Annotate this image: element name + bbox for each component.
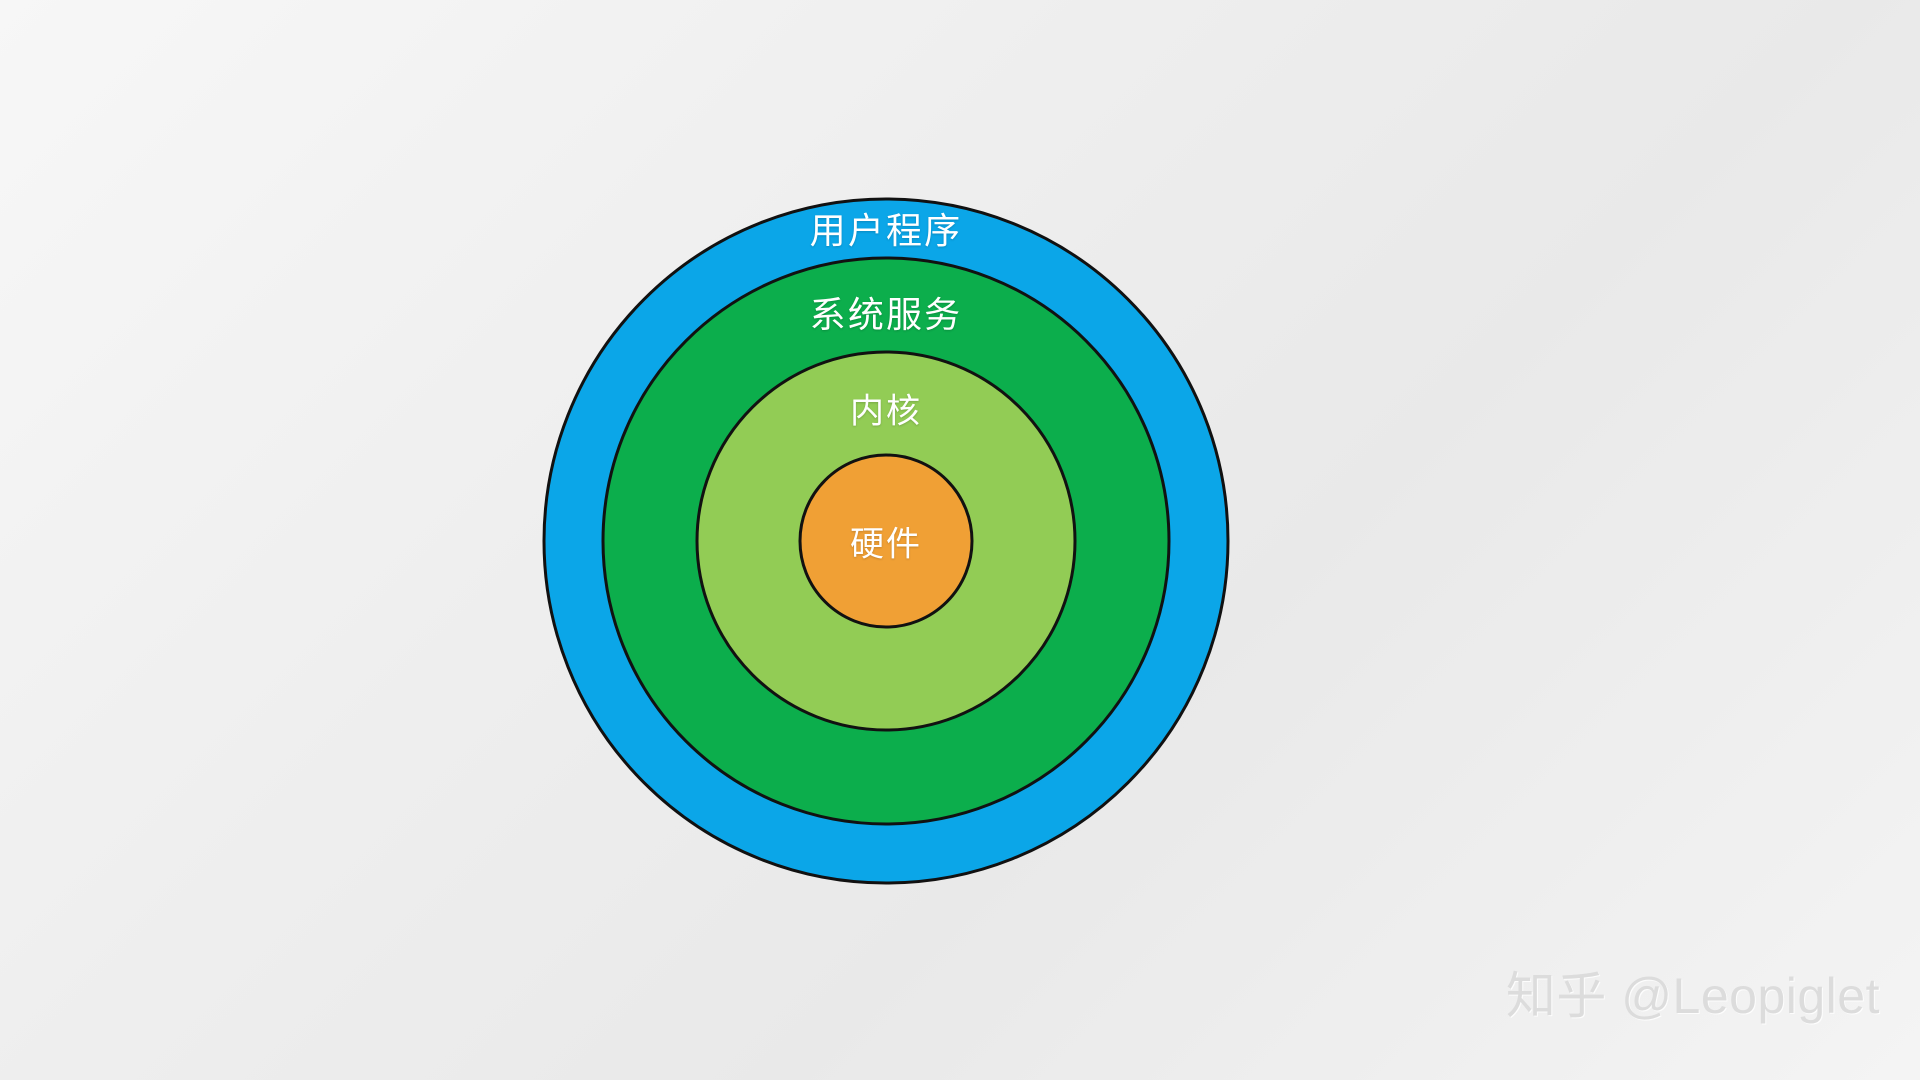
ring-hardware[interactable]: [800, 455, 972, 627]
diagram-canvas: 用户程序 系统服务 内核 硬件 知乎 @Leopiglet: [0, 0, 1920, 1080]
concentric-circles-diagram: [0, 0, 1920, 1080]
watermark-text: 知乎 @Leopiglet: [1506, 956, 1880, 1028]
